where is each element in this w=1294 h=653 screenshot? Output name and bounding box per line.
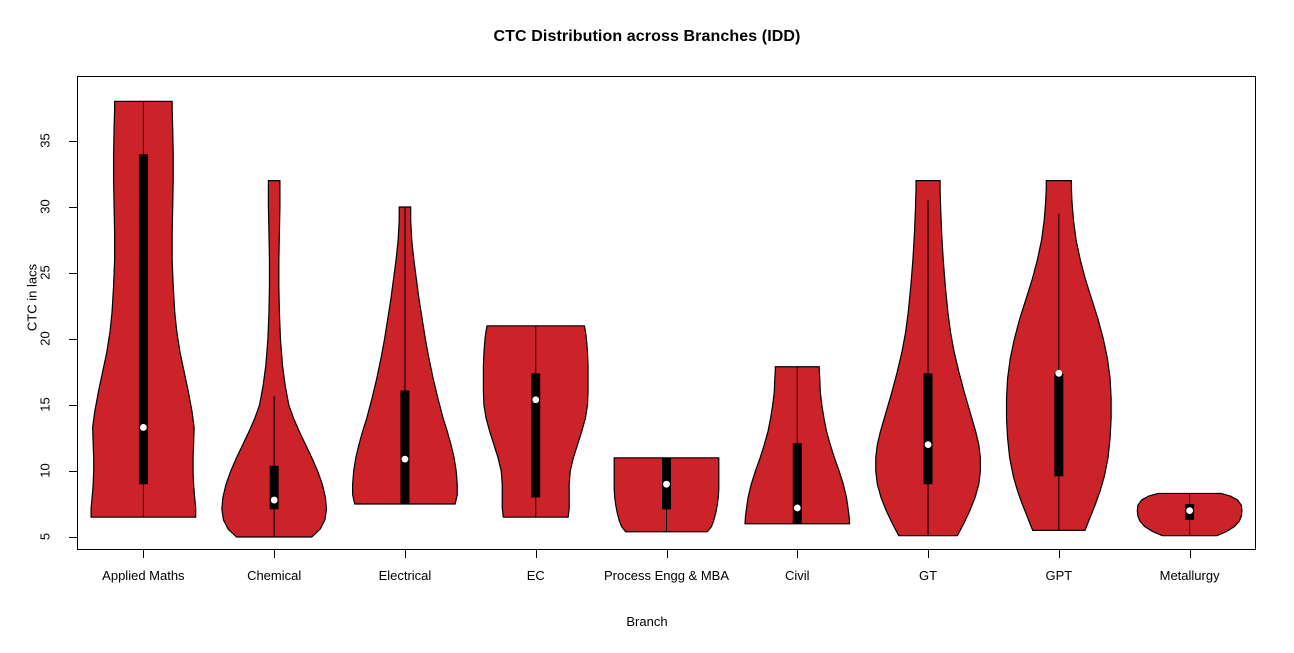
violin-metallurgy <box>1137 493 1242 535</box>
y-axis-tick-label: 5 <box>38 517 53 557</box>
iqr-box <box>139 154 148 484</box>
y-axis-label: CTC in lacs <box>25 18 40 578</box>
median-marker <box>663 481 670 488</box>
iqr-box <box>1054 373 1063 476</box>
x-axis-tick-mark <box>928 550 929 558</box>
x-axis-tick-mark <box>667 550 668 558</box>
median-marker <box>1186 507 1193 514</box>
violin-process-engg-mba <box>614 458 719 532</box>
y-axis-tick-mark <box>69 207 77 208</box>
x-axis-tick-mark <box>1190 550 1191 558</box>
y-axis-tick-label: 30 <box>38 187 53 227</box>
x-axis-tick-label: Metallurgy <box>1160 568 1220 583</box>
median-marker <box>271 497 278 504</box>
x-axis-tick-label: Electrical <box>379 568 432 583</box>
y-axis-tick-mark <box>69 471 77 472</box>
x-axis-tick-mark <box>143 550 144 558</box>
y-axis-tick-mark <box>69 339 77 340</box>
violin-chemical <box>222 181 327 537</box>
iqr-box <box>400 390 409 504</box>
violin-electrical <box>353 207 458 504</box>
violin-series-group <box>78 77 1255 549</box>
x-axis-tick-label: Chemical <box>247 568 301 583</box>
y-axis-tick-mark <box>69 273 77 274</box>
violin-applied-maths <box>91 101 196 517</box>
x-axis-tick-label: GPT <box>1045 568 1072 583</box>
median-marker <box>532 396 539 403</box>
chart-title: CTC Distribution across Branches (IDD) <box>0 28 1294 46</box>
x-axis-tick-mark <box>797 550 798 558</box>
y-axis-tick-label: 20 <box>38 319 53 359</box>
median-marker <box>402 456 409 463</box>
violin-plot-figure: CTC Distribution across Branches (IDD) C… <box>0 0 1294 653</box>
y-axis-tick-label: 15 <box>38 385 53 425</box>
y-axis-tick-mark <box>69 141 77 142</box>
x-axis-tick-mark <box>1059 550 1060 558</box>
violin-civil <box>745 367 850 524</box>
median-marker <box>1055 370 1062 377</box>
y-axis-tick-mark <box>69 537 77 538</box>
iqr-box <box>924 373 933 484</box>
median-marker <box>140 424 147 431</box>
violin-gt <box>876 181 981 536</box>
x-axis-tick-mark <box>536 550 537 558</box>
plot-area <box>77 76 1256 550</box>
x-axis-tick-label: Applied Maths <box>102 568 184 583</box>
y-axis-tick-mark <box>69 405 77 406</box>
x-axis-tick-mark <box>405 550 406 558</box>
median-marker <box>794 505 801 512</box>
x-axis-tick-label: Civil <box>785 568 810 583</box>
y-axis-tick-label: 25 <box>38 253 53 293</box>
x-axis-tick-mark <box>274 550 275 558</box>
y-axis-tick-label: 10 <box>38 451 53 491</box>
violin-ec <box>483 326 588 517</box>
x-axis-label: Branch <box>0 614 1294 629</box>
violin-gpt <box>1007 181 1112 531</box>
iqr-box <box>531 373 540 497</box>
iqr-box <box>793 443 802 524</box>
x-axis-tick-label: EC <box>527 568 545 583</box>
x-axis-tick-label: GT <box>919 568 937 583</box>
y-axis-tick-label: 35 <box>38 121 53 161</box>
x-axis-tick-label: Process Engg & MBA <box>604 568 729 583</box>
median-marker <box>925 441 932 448</box>
